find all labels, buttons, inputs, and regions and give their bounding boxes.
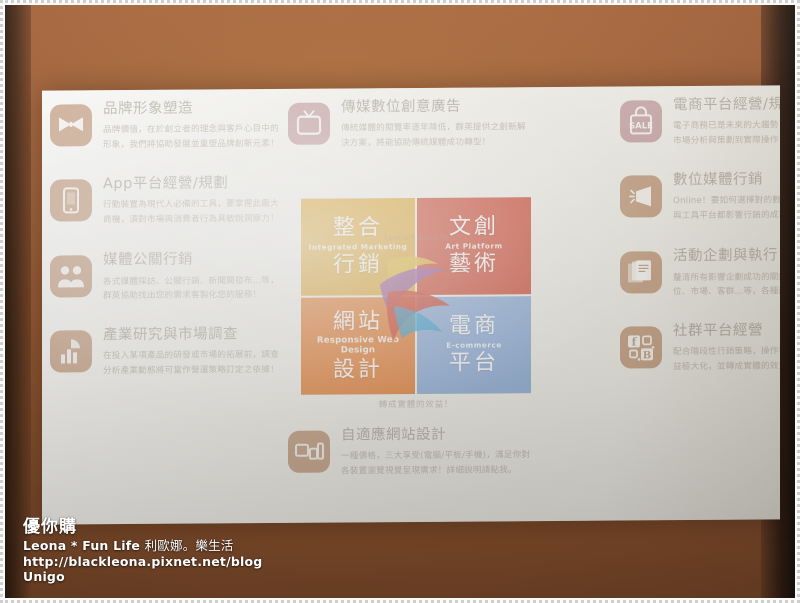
feature-responsive-web-design: 自適應網站設計 一種價格，三大享受(電腦/平板/手機)，滿足你對各裝置瀏覽視覺呈… — [288, 425, 534, 479]
feature-event-planning: 活動企劃與執行 釐清所有影響企劃成功的關鍵，包含公司定位、市場、客群…等，各種前… — [620, 246, 780, 300]
service-block-ecommerce: 電商 E-commerce 平台 — [417, 296, 531, 394]
svg-text:SALE: SALE — [629, 121, 653, 131]
block-cjk-bottom: 設計 — [333, 358, 383, 382]
watermark-site-name: Unigo — [23, 569, 262, 584]
watermark-url: http://blackleona.pixnet.net/blog — [23, 554, 262, 569]
watermark-brand: 優你購 — [23, 517, 262, 538]
feature-ecommerce-platform: SALE 電商平台經營/規劃 電子商務已是未來的大趨勢，群英自最重要的市場分析與… — [620, 95, 780, 149]
feature-desc: 在投入某項產品的研發或市場的拓展前，調查分析產業動態將可當作營運策略訂定之依據！ — [103, 348, 282, 379]
megaphone-icon — [620, 175, 662, 217]
feature-title: 數位媒體行銷 — [673, 170, 780, 189]
swoosh-logo-watermark — [360, 240, 468, 345]
screenshot-root: 品牌形象塑造 品牌價值，在於創立者的理念與客戶心目中的形象，我們將協助發展並重塑… — [0, 0, 800, 603]
feature-title: 活動企劃與執行 — [673, 246, 780, 265]
block-cjk-bottom: 藝術 — [449, 253, 499, 277]
sale-bag-icon: SALE — [620, 100, 662, 142]
people-icon — [50, 256, 92, 298]
block-subtitle: Responsive Web Design — [303, 336, 413, 356]
feature-digital-creative-ads: 傳媒數位創意廣告 傳統媒體的閱覽率逐年降低，群英提供之創新解決方案，將能協助傳統… — [288, 97, 528, 151]
feature-desc: 品牌價值，在於創立者的理念與客戶心目中的形象，我們將協助發展並重塑品牌創新元素！ — [103, 122, 282, 153]
block-cjk-bottom: 平台 — [449, 352, 499, 376]
feature-desc: 行動裝置為現代人必備的工具，要掌握此龐大商機，須對市場與消費者行為具敏銳洞察力！ — [103, 197, 282, 228]
block-cjk-top: 文創 — [449, 216, 499, 240]
feature-market-research: 產業研究與市場調查 在投入某項產品的研發或市場的拓展前，調查分析產業動態將可當作… — [50, 325, 282, 379]
slide-column-middle: 傳媒數位創意廣告 傳統媒體的閱覽率逐年降低，群英提供之創新解決方案，將能協助傳統… — [288, 97, 528, 151]
watermark-tagline-cjk: 利歐娜。樂生活 — [145, 538, 234, 553]
watermark-tagline-en: Leona * Fun Life — [23, 538, 145, 553]
room-wall: 品牌形象塑造 品牌價值，在於創立者的理念與客戶心目中的形象，我們將協助發展並重塑… — [5, 5, 795, 598]
block-cjk-top: 網站 — [333, 310, 383, 334]
svg-text:f: f — [632, 335, 638, 348]
feature-title: 媒體公關行銷 — [103, 250, 282, 269]
watermark-tagline: Leona * Fun Life 利歐娜。樂生活 — [23, 538, 262, 553]
center-logo-caption: Leona * Fun Life — [342, 233, 492, 242]
feature-title: App平台經營/規劃 — [103, 174, 282, 193]
feature-social-platform: f B 社群平台經營 配合階段性行銷策略，操作社群平台將行銷 — [620, 321, 780, 375]
bowtie-icon — [50, 104, 92, 146]
block-subtitle: E-commerce — [446, 341, 502, 349]
responsive-layout-icon — [288, 431, 330, 473]
block-cjk-bottom: 行銷 — [333, 254, 383, 278]
feature-title: 品牌形象塑造 — [103, 99, 282, 118]
feature-app-platform: App平台經營/規劃 行動裝置為現代人必備的工具，要掌握此龐大商機，須對市場與消… — [50, 174, 282, 228]
block-cjk-top: 整合 — [333, 216, 383, 240]
svg-text:B: B — [643, 350, 651, 361]
feature-desc: Online！要如何選擇對的數位媒體？策略佈局與工具平台都影響行銷的成功與失敗！ — [673, 193, 780, 224]
feature-desc: 一種價格，三大享受(電腦/平板/手機)，滿足你對各裝置瀏覽視覺呈現需求！詳細說明… — [341, 448, 534, 479]
service-block-integrated-marketing: 整合 Integrated Marketing 行銷 — [301, 198, 415, 296]
feature-desc: 釐清所有影響企劃成功的關鍵，包含公司定位、市場、客群…等，各種前置作業到執行！ — [673, 269, 780, 300]
feature-title: 自適應網站設計 — [341, 425, 534, 444]
service-block-responsive-web-design: 網站 Responsive Web Design 設計 — [301, 297, 415, 395]
service-blocks-caption: 轉成實體的效益！ — [301, 397, 531, 411]
feature-desc: 電子商務已是未來的大趨勢，群英自最重要的市場分析與策劃到實際操作皆有豐富經驗。 — [673, 118, 780, 149]
feature-title: 傳媒數位創意廣告 — [341, 97, 528, 116]
wall-edge-left — [5, 5, 31, 598]
feature-media-pr: 媒體公關行銷 各式媒體採訪、公關行銷、新聞開發布…等，群英協助找出您的需求客製化… — [50, 250, 282, 304]
feature-desc: 傳統媒體的閱覽率逐年降低，群英提供之創新解決方案，將能協助傳統媒體成功轉型！ — [341, 120, 528, 151]
feature-desc: 配合階段性行銷策略，操作社群平台將行銷效益極大化，並轉成實體的效益！ — [673, 344, 780, 375]
blog-watermark: 優你購 Leona * Fun Life 利歐娜。樂生活 http://blac… — [23, 517, 262, 584]
feature-title: 產業研究與市場調查 — [103, 325, 282, 344]
projected-slide: 品牌形象塑造 品牌價值，在於創立者的理念與客戶心目中的形象，我們將協助發展並重塑… — [42, 85, 780, 524]
slide-column-middle-bottom: 自適應網站設計 一種價格，三大享受(電腦/平板/手機)，滿足你對各裝置瀏覽視覺呈… — [288, 425, 534, 479]
slide-column-right: SALE 電商平台經營/規劃 電子商務已是未來的大趨勢，群英自最重要的市場分析與… — [620, 95, 780, 375]
feature-digital-media-marketing: 數位媒體行銷 Online！要如何選擇對的數位媒體？策略佈局與工具平台都影響行銷… — [620, 170, 780, 224]
slide-column-left: 品牌形象塑造 品牌價值，在於創立者的理念與客戶心目中的形象，我們將協助發展並重塑… — [50, 99, 282, 379]
bar-chart-icon — [50, 330, 92, 372]
social-fb-blog-icon: f B — [620, 326, 662, 368]
smartphone-icon — [50, 179, 92, 221]
block-subtitle: Art Platform — [445, 242, 502, 250]
service-blocks-grid: 整合 Integrated Marketing 行銷 文創 Art Platfo… — [301, 197, 531, 395]
block-subtitle: Integrated Marketing — [309, 243, 408, 252]
feature-brand-identity: 品牌形象塑造 品牌價值，在於創立者的理念與客戶心目中的形象，我們將協助發展並重塑… — [50, 99, 282, 153]
documents-icon — [620, 252, 662, 294]
feature-title: 社群平台經營 — [673, 321, 780, 340]
television-icon — [288, 103, 330, 145]
wall-edge-right — [761, 5, 795, 598]
feature-title: 電商平台經營/規劃 — [673, 95, 780, 114]
feature-desc: 各式媒體採訪、公關行銷、新聞開發布…等，群英協助找出您的需求客製化您的服務！ — [103, 273, 282, 304]
service-block-art-platform: 文創 Art Platform 藝術 — [417, 197, 531, 295]
block-cjk-top: 電商 — [449, 315, 499, 339]
